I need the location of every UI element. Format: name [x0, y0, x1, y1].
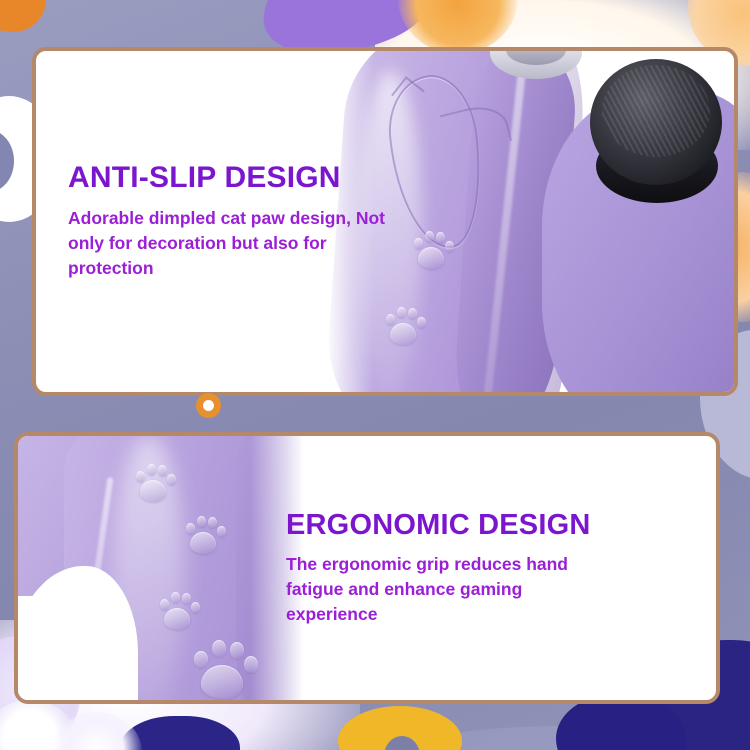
thumbstick-texture	[602, 65, 710, 157]
feature-text-ergonomic: ERGONOMIC DESIGN The ergonomic grip redu…	[286, 436, 716, 700]
paw-print-emboss-icon	[154, 588, 200, 634]
paw-print-emboss-icon	[130, 460, 176, 506]
paw-print-emboss-icon	[186, 634, 258, 700]
headline-anti-slip: ANTI-SLIP DESIGN	[68, 162, 394, 194]
headline-ergonomic: ERGONOMIC DESIGN	[286, 510, 690, 540]
feature-card-anti-slip: ANTI-SLIP DESIGN Adorable dimpled cat pa…	[32, 47, 738, 396]
feature-text-anti-slip: ANTI-SLIP DESIGN Adorable dimpled cat pa…	[36, 51, 394, 392]
promo-graphic: ANTI-SLIP DESIGN Adorable dimpled cat pa…	[0, 0, 750, 750]
paw-print-emboss-icon	[180, 512, 226, 558]
product-photo-ergonomic	[18, 436, 318, 700]
body-text-ergonomic: The ergonomic grip reduces hand fatigue …	[286, 552, 616, 627]
paw-print-emboss-icon	[408, 227, 454, 273]
divider-ring-orange-hole	[203, 400, 214, 411]
body-text-anti-slip: Adorable dimpled cat paw design, Not onl…	[68, 206, 394, 281]
feature-card-ergonomic: ERGONOMIC DESIGN The ergonomic grip redu…	[14, 432, 720, 704]
